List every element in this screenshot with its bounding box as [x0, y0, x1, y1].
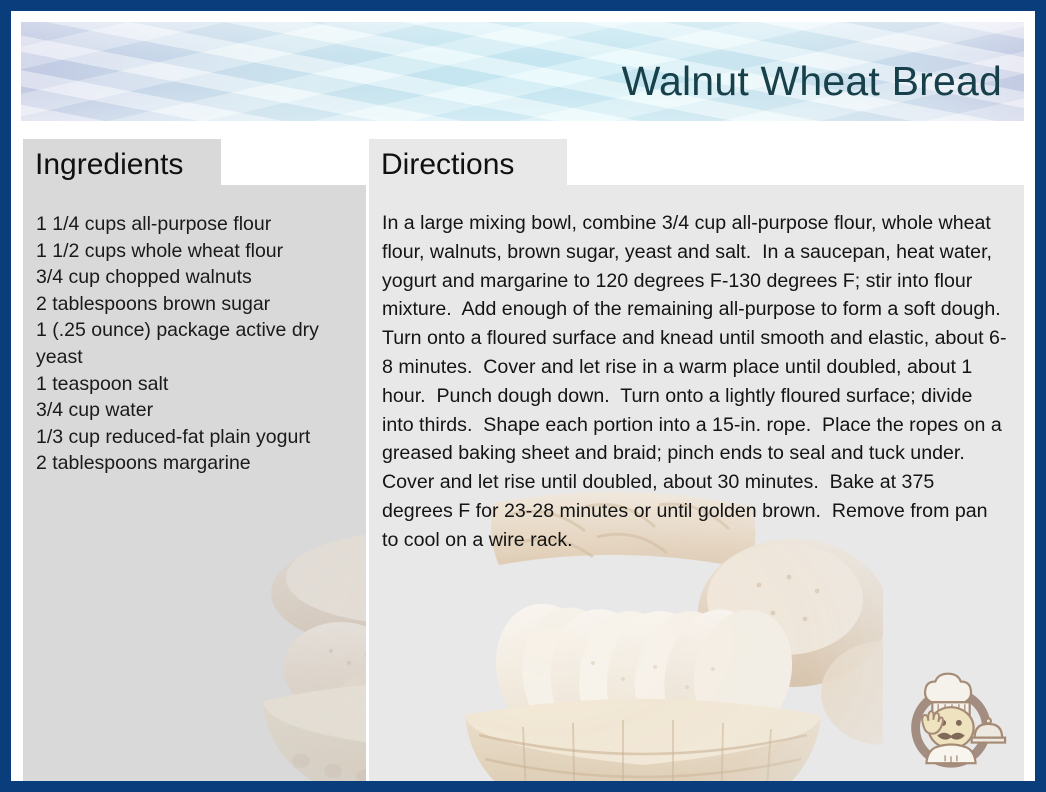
directions-heading: Directions [369, 139, 567, 185]
slide-page: Walnut Wheat Bread Ingredients [11, 11, 1035, 781]
list-item: 1 (.25 ounce) package active dry yeast [36, 317, 356, 370]
directions-body: In a large mixing bowl, combine 3/4 cup … [369, 185, 1024, 555]
ingredients-heading: Ingredients [23, 139, 221, 185]
list-item: 2 tablespoons brown sugar [36, 291, 356, 318]
list-item: 1 teaspoon salt [36, 371, 356, 398]
list-item: 1 1/2 cups whole wheat flour [36, 238, 356, 265]
chef-mascot-logo [892, 657, 1010, 775]
title-banner: Walnut Wheat Bread [21, 22, 1024, 121]
list-item: 3/4 cup chopped walnuts [36, 264, 356, 291]
list-item: 1/3 cup reduced-fat plain yogurt [36, 424, 356, 451]
list-item: 3/4 cup water [36, 397, 356, 424]
directions-panel: In a large mixing bowl, combine 3/4 cup … [369, 185, 1024, 781]
page-title: Walnut Wheat Bread [622, 60, 1002, 103]
ingredients-panel: 1 1/4 cups all-purpose flour 1 1/2 cups … [23, 185, 366, 781]
list-item: 2 tablespoons margarine [36, 450, 356, 477]
recipe-slide: Walnut Wheat Bread Ingredients [0, 0, 1046, 792]
ingredients-list: 1 1/4 cups all-purpose flour 1 1/2 cups … [23, 185, 366, 477]
list-item: 1 1/4 cups all-purpose flour [36, 211, 356, 238]
